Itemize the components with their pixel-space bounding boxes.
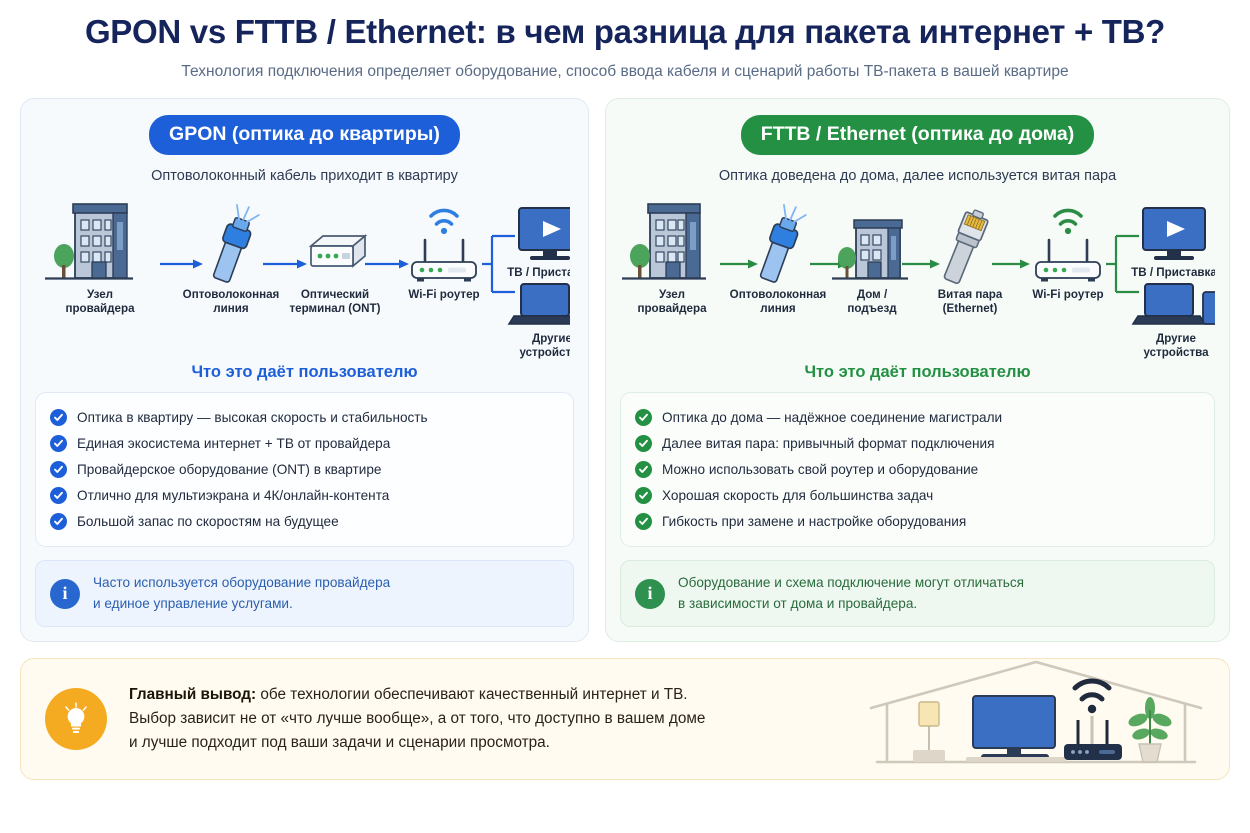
benefit-text: Далее витая пара: привычный формат подкл… (662, 436, 995, 451)
note-line-1: Оборудование и схема подключение могут о… (678, 575, 1024, 590)
flow-label: Другие (1156, 332, 1197, 345)
list-item: Единая экосистема интернет + ТВ от прова… (50, 430, 559, 456)
flow-label: Оптический (301, 288, 369, 301)
fiber-optic-connector-icon (209, 203, 260, 285)
page-title: GPON vs FTTB / Ethernet: в чем разница д… (0, 14, 1250, 50)
check-icon (50, 435, 67, 452)
list-item: Гибкость при замене и настройке оборудов… (635, 508, 1200, 534)
conclusion-bar: Главный вывод: обе технологии обеспечива… (20, 658, 1230, 780)
flow-label: ТВ / Приставка (507, 266, 570, 279)
flow-label: провайдера (637, 302, 707, 315)
check-icon (50, 513, 67, 530)
panel-fttb-subtitle: Оптика доведена до дома, далее используе… (620, 168, 1215, 184)
check-icon (635, 435, 652, 452)
check-icon (635, 409, 652, 426)
list-item: Провайдерское оборудование (ONT) в кварт… (50, 456, 559, 482)
benefit-text: Отлично для мультиэкрана и 4К/онлайн-кон… (77, 488, 389, 503)
flow-label: терминал (ONT) (290, 302, 381, 315)
list-item: Хорошая скорость для большинства задач (635, 482, 1200, 508)
conclusion-lead: Главный вывод: (129, 686, 256, 703)
flow-label: Оптоволоконная (730, 288, 827, 301)
router-icon (1064, 681, 1122, 760)
ont-terminal-icon (311, 236, 365, 266)
note-line-1: Часто используется оборудование провайде… (93, 575, 390, 590)
flow-label: (Ethernet) (943, 302, 998, 315)
note-line-2: и единое управление услугами. (93, 596, 293, 611)
panel-gpon-note: i Часто используется оборудование провай… (35, 560, 574, 627)
wifi-router-icon (1036, 211, 1100, 282)
plant-icon (1127, 697, 1174, 762)
flow-label: подъезд (847, 302, 897, 315)
list-item: Далее витая пара: привычный формат подкл… (635, 430, 1200, 456)
panel-gpon: GPON (оптика до квартиры) Оптоволоконный… (20, 98, 589, 642)
benefit-text: Большой запас по скоростям на будущее (77, 514, 339, 529)
panel-fttb-note: i Оборудование и схема подключение могут… (620, 560, 1215, 627)
benefit-text: Оптика до дома — надёжное соединение маг… (662, 410, 1002, 425)
fiber-optic-connector-icon (756, 203, 807, 285)
panel-fttb-badge: FTTB / Ethernet (оптика до дома) (741, 115, 1095, 155)
info-icon: i (635, 579, 665, 609)
check-icon (50, 461, 67, 478)
comparison-panels: GPON (оптика до квартиры) Оптоволоконный… (0, 81, 1250, 642)
wifi-router-icon (412, 211, 476, 282)
panel-fttb: FTTB / Ethernet (оптика до дома) Оптика … (605, 98, 1230, 642)
panel-gpon-subtitle: Оптоволоконный кабель приходит в квартир… (35, 168, 574, 184)
flow-label: Витая пара (938, 288, 1003, 301)
benefit-text: Единая экосистема интернет + ТВ от прова… (77, 436, 390, 451)
benefit-text: Гибкость при замене и настройке оборудов… (662, 514, 966, 529)
panel-gpon-benefits-title: Что это даёт пользователю (35, 363, 574, 382)
panel-fttb-benefits-title: Что это даёт пользователю (620, 363, 1215, 382)
note-line-2: в зависимости от дома и провайдера. (678, 596, 917, 611)
page-header: GPON vs FTTB / Ethernet: в чем разница д… (0, 0, 1250, 81)
list-item: Оптика в квартиру — высокая скорость и с… (50, 404, 559, 430)
conclusion-line-1: обе технологии обеспечивают качественный… (256, 686, 687, 703)
flow-label: Оптоволоконная (183, 288, 280, 301)
conclusion-line-2: Выбор зависит не от «что лучше вообще», … (129, 710, 705, 727)
tv-screen-icon (1143, 208, 1205, 260)
residential-building-icon (832, 220, 908, 279)
flow-label: Wi-Fi роутер (408, 288, 479, 301)
panel-gpon-benefits-list: Оптика в квартиру — высокая скорость и с… (35, 392, 574, 547)
infographic-page: GPON vs FTTB / Ethernet: в чем разница д… (0, 0, 1250, 833)
flow-label: устройства (1143, 346, 1209, 359)
conclusion-text: Главный вывод: обе технологии обеспечива… (129, 683, 705, 755)
panel-gpon-badge-wrap: GPON (оптика до квартиры) (35, 115, 574, 155)
flow-label: ТВ / Приставка (1131, 266, 1215, 279)
tv-icon (966, 696, 1066, 762)
list-item: Оптика до дома — надёжное соединение маг… (635, 404, 1200, 430)
flow-label: Другие (532, 332, 570, 345)
laptop-and-phone-icon (509, 284, 570, 324)
laptop-and-phone-icon (1133, 284, 1215, 324)
flow-label: линия (213, 302, 248, 315)
note-text: Оборудование и схема подключение могут о… (678, 573, 1024, 614)
flow-label: устройства (519, 346, 570, 359)
office-building-icon (45, 204, 133, 279)
panel-gpon-flow-diagram: Узел провайдера Оптоволоконная линия (35, 196, 574, 361)
check-icon (635, 461, 652, 478)
check-icon (50, 409, 67, 426)
flow-label: Дом / (857, 288, 888, 301)
house-interior-icon (861, 658, 1211, 775)
flow-label: провайдера (65, 302, 135, 315)
info-icon: i (50, 579, 80, 609)
check-icon (50, 487, 67, 504)
tv-screen-icon (519, 208, 570, 260)
office-building-icon (622, 204, 706, 279)
lightbulb-icon (45, 688, 107, 750)
conclusion-line-3: и лучше подходит под ваши задачи и сцена… (129, 734, 550, 751)
flow-label: Узел (87, 288, 113, 301)
page-subtitle: Технология подключения определяет оборуд… (0, 63, 1250, 81)
panel-fttb-benefits-list: Оптика до дома — надёжное соединение маг… (620, 392, 1215, 547)
lamp-icon (913, 702, 945, 762)
check-icon (635, 487, 652, 504)
list-item: Большой запас по скоростям на будущее (50, 508, 559, 534)
list-item: Можно использовать свой роутер и оборудо… (635, 456, 1200, 482)
panel-gpon-badge: GPON (оптика до квартиры) (149, 115, 460, 155)
benefit-text: Оптика в квартиру — высокая скорость и с… (77, 410, 428, 425)
flow-label: Узел (659, 288, 685, 301)
benefit-text: Можно использовать свой роутер и оборудо… (662, 462, 978, 477)
flow-label: линия (760, 302, 795, 315)
check-icon (635, 513, 652, 530)
panel-fttb-flow-diagram: Узел провайдера Оптоволоконная линия (620, 196, 1215, 361)
panel-fttb-badge-wrap: FTTB / Ethernet (оптика до дома) (620, 115, 1215, 155)
list-item: Отлично для мультиэкрана и 4К/онлайн-кон… (50, 482, 559, 508)
flow-label: Wi-Fi роутер (1032, 288, 1103, 301)
benefit-text: Хорошая скорость для большинства задач (662, 488, 933, 503)
benefit-text: Провайдерское оборудование (ONT) в кварт… (77, 462, 381, 477)
note-text: Часто используется оборудование провайде… (93, 573, 390, 614)
rj45-connector-icon (940, 207, 990, 286)
